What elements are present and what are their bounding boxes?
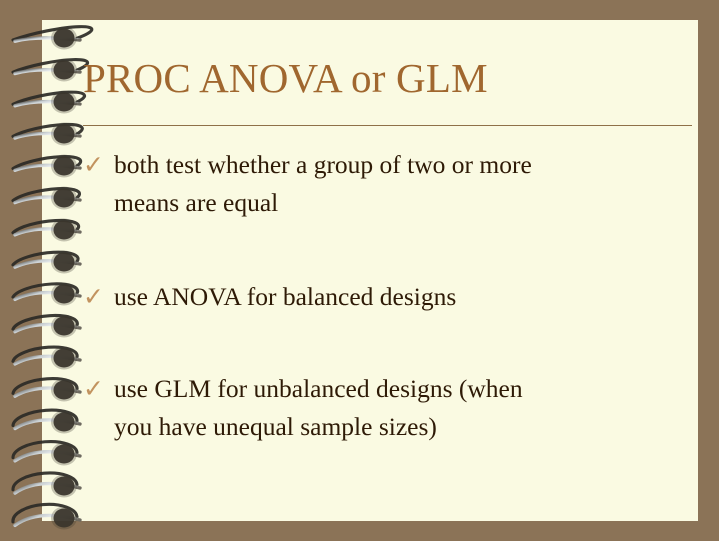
title-divider [83, 125, 692, 126]
bullet-item-2-text: use ANOVA for balanced designs [114, 278, 683, 316]
bullet-item-1-text: both test whether a group of two or more… [114, 146, 683, 222]
bullet-item-2: ✓ use ANOVA for balanced designs [83, 278, 683, 316]
checkmark-icon: ✓ [83, 370, 107, 408]
bullet-item-3: ✓ use GLM for unbalanced designs (when y… [83, 370, 683, 446]
checkmark-icon: ✓ [83, 278, 107, 316]
bullet-list: ✓ both test whether a group of two or mo… [83, 146, 683, 446]
slide-canvas: PROC ANOVA or GLM ✓ both test whether a … [0, 0, 719, 539]
bullet-item-1: ✓ both test whether a group of two or mo… [83, 146, 683, 222]
bullet-item-3-text: use GLM for unbalanced designs (when you… [114, 370, 683, 446]
checkmark-icon: ✓ [83, 146, 107, 184]
page-title: PROC ANOVA or GLM [83, 52, 683, 104]
